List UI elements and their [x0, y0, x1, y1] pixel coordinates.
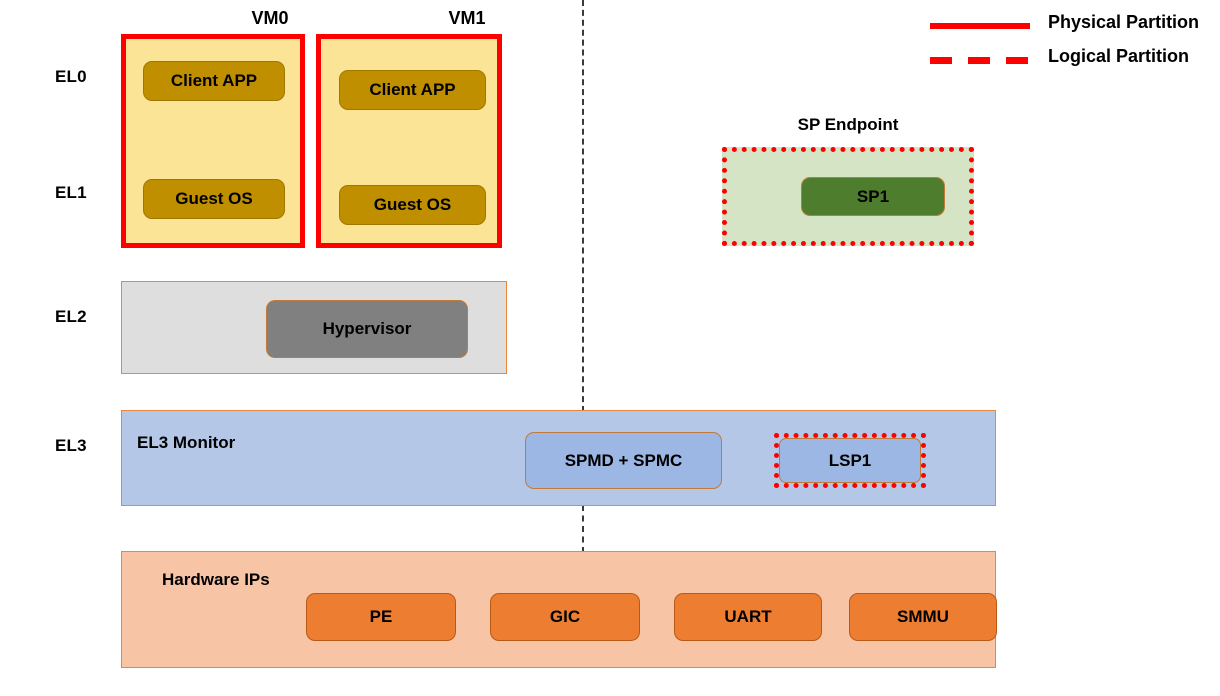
- secure-world-divider-segment-2: [582, 505, 584, 553]
- hardware-ips-band: Hardware IPs PE GIC UART SMMU: [121, 551, 996, 668]
- vm0-guest-os-node[interactable]: Guest OS: [143, 179, 285, 219]
- architecture-diagram: Physical Partition Logical Partition EL0…: [0, 0, 1220, 696]
- vm0-caption: VM0: [210, 8, 330, 29]
- vm0-client-app-node[interactable]: Client APP: [143, 61, 285, 101]
- vm0-physical-partition[interactable]: Client APP Guest OS: [121, 34, 305, 248]
- sp-endpoint-caption: SP Endpoint: [722, 115, 974, 135]
- legend-swatch-dashed-line-icon: [930, 57, 1030, 64]
- level-label-el2: EL2: [55, 307, 87, 327]
- vm1-caption: VM1: [407, 8, 527, 29]
- spmd-spmc-node[interactable]: SPMD + SPMC: [525, 432, 722, 489]
- level-label-el0: EL0: [55, 67, 87, 87]
- vm1-guest-os-node[interactable]: Guest OS: [339, 185, 486, 225]
- hardware-node-uart[interactable]: UART: [674, 593, 822, 641]
- vm1-physical-partition[interactable]: Client APP Guest OS: [316, 34, 502, 248]
- secure-world-divider: [582, 0, 584, 412]
- hardware-node-gic[interactable]: GIC: [490, 593, 640, 641]
- vm1-client-app-node[interactable]: Client APP: [339, 70, 486, 110]
- hardware-node-smmu[interactable]: SMMU: [849, 593, 997, 641]
- legend-item-physical: Physical Partition: [930, 12, 1210, 40]
- legend-label-logical: Logical Partition: [1048, 46, 1189, 67]
- lsp1-node[interactable]: LSP1: [779, 438, 921, 483]
- el2-band: Hypervisor: [121, 281, 507, 374]
- hypervisor-node[interactable]: Hypervisor: [266, 300, 468, 358]
- legend-item-logical: Logical Partition: [930, 46, 1210, 74]
- el3-monitor-title: EL3 Monitor: [137, 433, 235, 453]
- hardware-node-pe[interactable]: PE: [306, 593, 456, 641]
- legend-swatch-solid-line-icon: [930, 23, 1030, 29]
- lsp1-logical-partition[interactable]: LSP1: [774, 433, 926, 488]
- el3-band: EL3 Monitor SPMD + SPMC LSP1: [121, 410, 996, 506]
- hardware-ips-title: Hardware IPs: [162, 570, 270, 590]
- level-label-el1: EL1: [55, 183, 87, 203]
- legend-label-physical: Physical Partition: [1048, 12, 1199, 33]
- level-label-el3: EL3: [55, 436, 87, 456]
- sp-endpoint-logical-partition[interactable]: SP1: [722, 147, 974, 246]
- sp1-node[interactable]: SP1: [801, 177, 945, 216]
